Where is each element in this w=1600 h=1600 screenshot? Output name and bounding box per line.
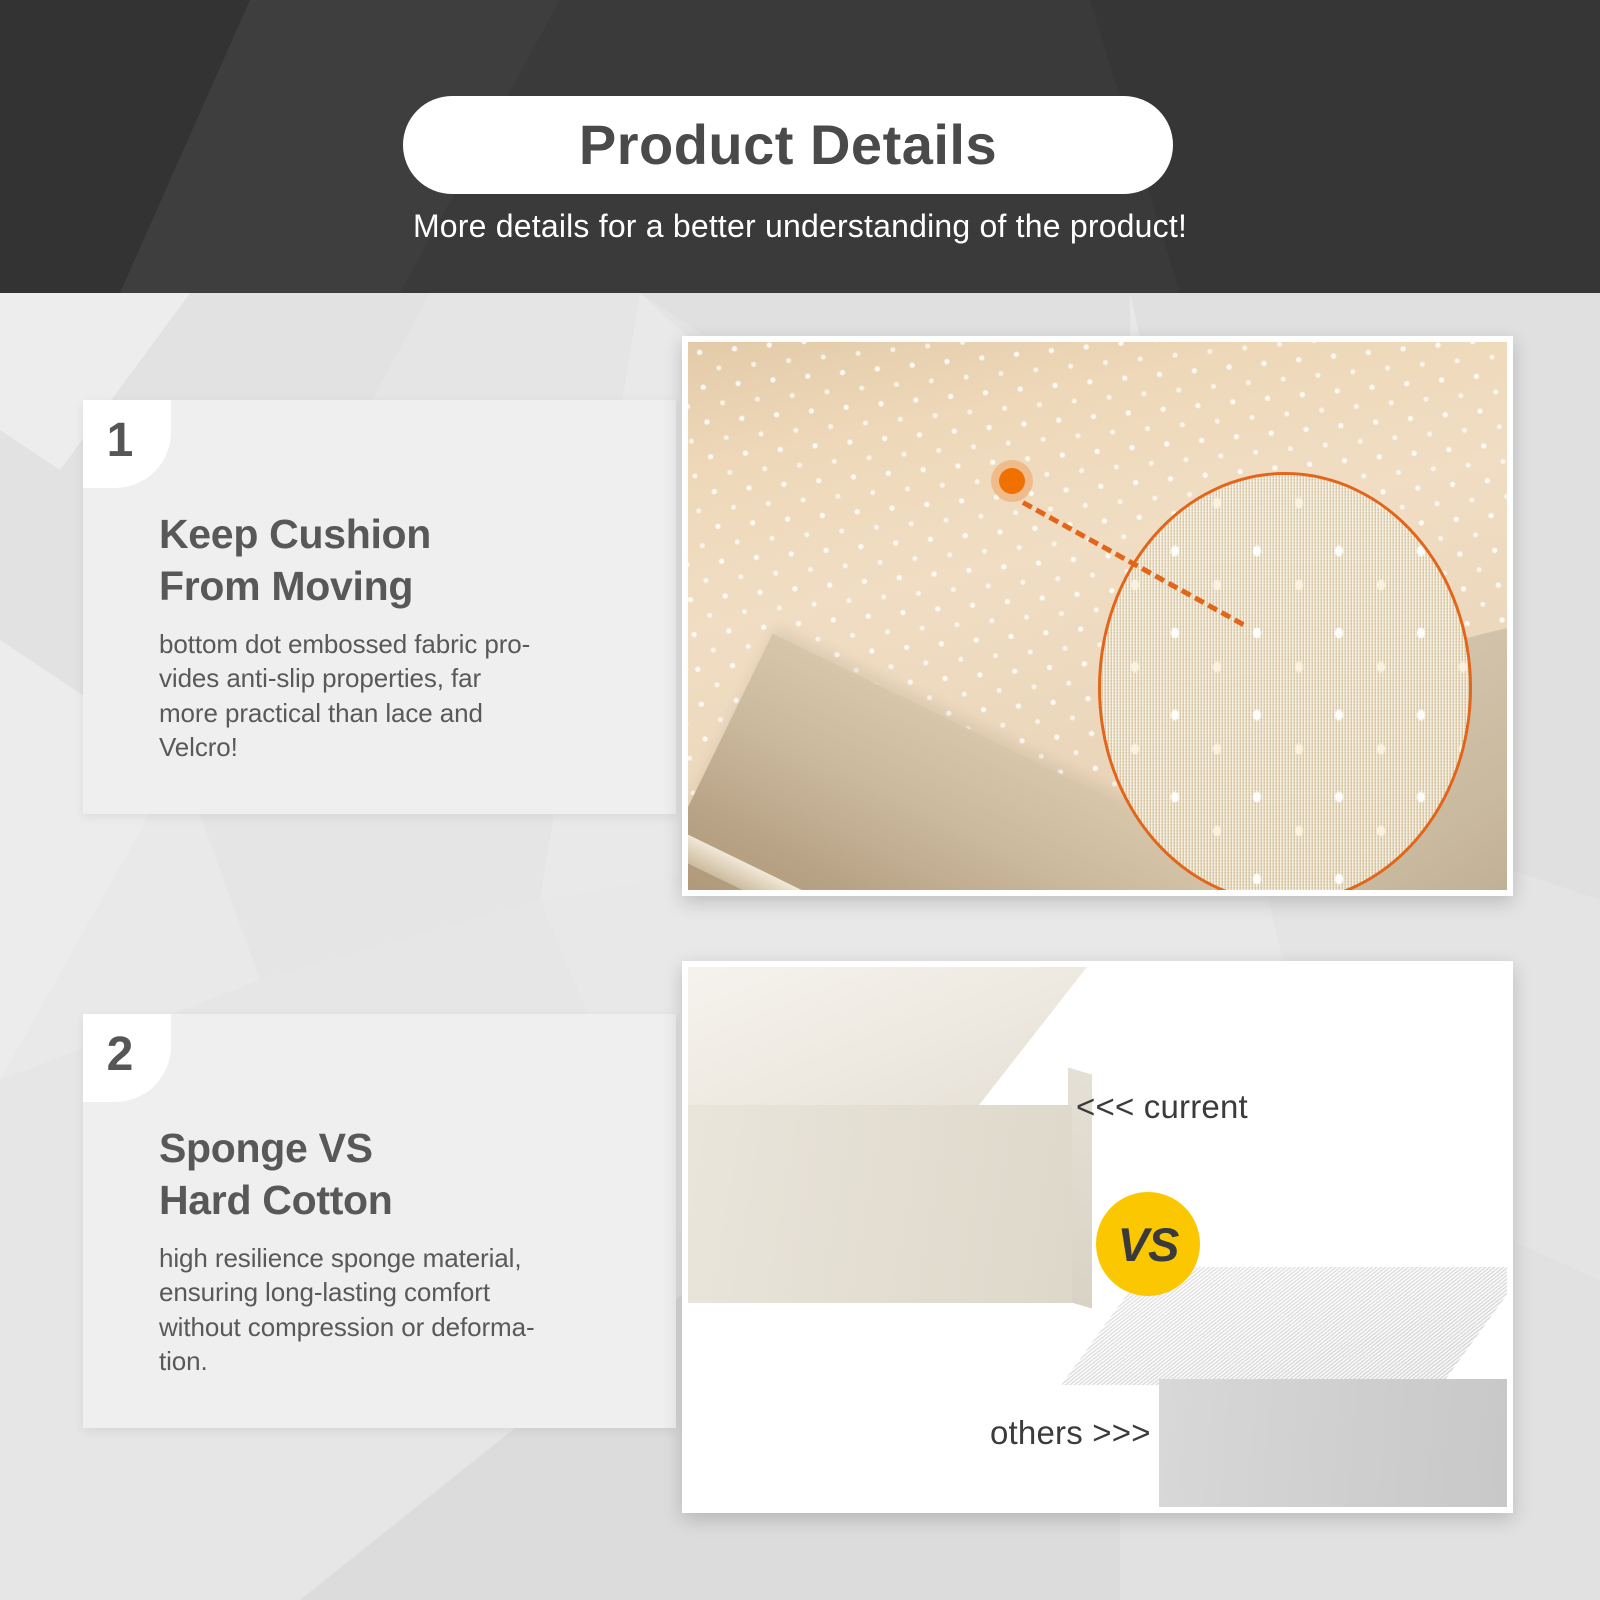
step-number-badge-2: 2 xyxy=(83,1014,171,1102)
cushion-photo xyxy=(688,342,1507,890)
feature-card-1: 1 Keep Cushion From Moving bottom dot em… xyxy=(83,400,676,814)
vs-badge: VS xyxy=(1096,1192,1200,1296)
others-product-label: others >>> xyxy=(990,1414,1151,1452)
sponge-vs-cotton-photo: <<< current others >>> VS xyxy=(688,967,1507,1507)
sponge-block-front-face xyxy=(688,1105,1072,1303)
step-number-1: 1 xyxy=(107,417,134,465)
feature-card-2: 2 Sponge VS Hard Cotton high resilience … xyxy=(83,1014,676,1428)
content-area: 1 Keep Cushion From Moving bottom dot em… xyxy=(0,0,1600,1600)
cotton-block-front-face xyxy=(1159,1379,1507,1507)
feature-photo-1 xyxy=(682,336,1513,896)
step-number-badge-1: 1 xyxy=(83,400,171,488)
feature-photo-2: <<< current others >>> VS xyxy=(682,961,1513,1513)
magnified-dot-texture xyxy=(1098,472,1472,890)
feature-description-1: bottom dot embossed fabric pro- vides an… xyxy=(159,627,652,764)
magnifier-circle xyxy=(1098,472,1472,890)
feature-title-2: Sponge VS Hard Cotton xyxy=(159,1122,652,1227)
current-product-label: <<< current xyxy=(1076,1088,1248,1126)
callout-hotspot-dot xyxy=(991,460,1033,502)
feature-description-2: high resilience sponge material, ensurin… xyxy=(159,1241,652,1378)
feature-card-2-body: Sponge VS Hard Cotton high resilience sp… xyxy=(159,1122,652,1378)
feature-title-1: Keep Cushion From Moving xyxy=(159,508,652,613)
vs-badge-label: VS xyxy=(1118,1221,1179,1268)
step-number-2: 2 xyxy=(107,1031,134,1079)
feature-card-1-body: Keep Cushion From Moving bottom dot embo… xyxy=(159,508,652,764)
